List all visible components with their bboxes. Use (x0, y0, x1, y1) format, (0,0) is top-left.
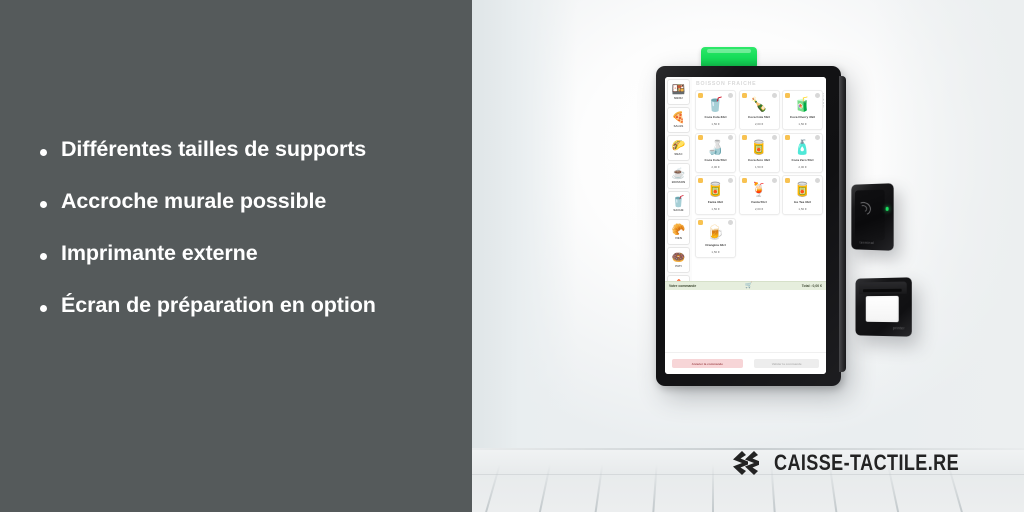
burger-icon: 🌮 (672, 140, 686, 152)
promo-tag-icon (742, 178, 747, 183)
feature-bullet-item: Imprimante externe (40, 242, 460, 294)
cold-drink-icon: 🥤 (672, 196, 686, 208)
product-card[interactable]: 🍾 Coca Cola 50cl 2,00 € (739, 90, 780, 130)
floor-tile-line (652, 464, 657, 512)
wall-shadow-right (874, 0, 1024, 448)
sidebar-item-menu[interactable]: 🍱 MENU (667, 79, 690, 105)
order-action-bar: Annuler la commande Valider la commande (665, 352, 826, 374)
product-card[interactable]: 🧴 Coca Zero 50cl 2,00 € (782, 133, 823, 173)
product-card[interactable]: 🥫 Coca Zero 33cl 1,50 € (739, 133, 780, 173)
double-chevron-left-icon (729, 448, 759, 478)
product-name: Coca Zero 50cl (791, 158, 813, 162)
menu-combo-icon: 🍱 (672, 84, 686, 96)
product-image: 🍶 (707, 140, 724, 155)
product-grid: 🥤 Coca Cola 33cl 1,50 € 🍾 Coca Cola 50cl… (692, 90, 826, 281)
bullet-dot-icon (40, 201, 47, 208)
terminal-brand-label: terminal (860, 241, 875, 245)
info-icon[interactable] (815, 93, 820, 98)
product-image: 🧴 (794, 140, 811, 155)
product-price: 1,50 € (711, 207, 719, 211)
printer-paper-slot (863, 289, 902, 293)
promo-tag-icon (698, 178, 703, 183)
feature-bullet-item: Différentes tailles de supports (40, 138, 460, 190)
info-icon[interactable] (728, 220, 733, 225)
promo-tag-icon (742, 93, 747, 98)
product-card[interactable]: 🥫 Fanta 33cl 1,50 € (695, 175, 736, 215)
order-label: Votre commande (669, 284, 696, 288)
promo-tag-icon (785, 93, 790, 98)
cancel-order-button[interactable]: Annuler la commande (672, 359, 743, 368)
product-name: Coca Zero 33cl (748, 158, 770, 162)
section-title: BOISSON FRAICHE (692, 77, 826, 90)
product-image: 🍹 (750, 182, 767, 197)
product-photo-scene: KIOSK 🍱 MENU 🍕 SALES 🌮 (472, 0, 1024, 512)
kiosk-main-area: BOISSON FRAICHE 🥤 Coca Cola 33cl 1,50 € (692, 77, 826, 281)
floor-tile-line (485, 464, 501, 512)
product-image: 🥫 (750, 140, 767, 155)
product-price: 1,50 € (798, 122, 806, 126)
sidebar-item-sales[interactable]: 🍕 SALES (667, 107, 690, 133)
status-led-indicator (885, 207, 888, 211)
bullet-dot-icon (40, 149, 47, 156)
kiosk-category-sidebar: 🍱 MENU 🍕 SALES 🌮 SNAC ☕ (665, 77, 692, 281)
donut-icon: 🍩 (672, 252, 686, 264)
info-icon[interactable] (815, 178, 820, 183)
product-name: Coca Cola 50cl (704, 158, 726, 162)
floor-tile-line (712, 464, 714, 512)
brand-name: CAISSE-TACTILE.RE (774, 450, 959, 476)
product-card[interactable]: 🍺 Orangina 33cl 1,50 € (695, 218, 736, 258)
hot-drink-icon: ☕ (672, 168, 686, 180)
sidebar-item-label: BOISSON (672, 180, 686, 184)
green-status-cap (701, 47, 757, 67)
receipt-printer: printer (856, 277, 912, 336)
feature-bullet-label: Écran de préparation en option (61, 294, 376, 318)
promo-tag-icon (742, 135, 747, 140)
info-icon[interactable] (772, 135, 777, 140)
feature-bullet-item: Écran de préparation en option (40, 294, 460, 346)
floor-tile-line (539, 464, 551, 512)
promo-tag-icon (698, 135, 703, 140)
sidebar-item-vien[interactable]: 🥐 VIEN (667, 219, 690, 245)
feature-bullet-label: Imprimante externe (61, 242, 258, 266)
product-name: Coca Cola 33cl (704, 115, 726, 119)
sidebar-item-label: VIEN (675, 236, 682, 240)
product-price: 2,00 € (711, 165, 719, 169)
feature-bullet-label: Accroche murale possible (61, 190, 326, 214)
info-icon[interactable] (728, 178, 733, 183)
product-name: Ice Tea 33cl (794, 200, 811, 204)
kiosk-body: 🍱 MENU 🍕 SALES 🌮 SNAC ☕ (665, 77, 826, 281)
product-price: 2,00 € (798, 165, 806, 169)
floor-tile-line (595, 464, 604, 512)
promo-tag-icon (698, 93, 703, 98)
brand-logo: CAISSE-TACTILE.RE (729, 448, 1000, 478)
wall-shadow-left (472, 0, 577, 448)
product-price: 1,50 € (711, 122, 719, 126)
bullet-dot-icon (40, 253, 47, 260)
tablet-kiosk-device: KIOSK 🍱 MENU 🍕 SALES 🌮 (656, 66, 841, 386)
sidebar-item-label: MENU (674, 96, 683, 100)
info-icon[interactable] (728, 93, 733, 98)
feature-bullet-item: Accroche murale possible (40, 190, 460, 242)
sidebar-item-label: SALES (674, 124, 684, 128)
product-name: Coca Cherry 33cl (790, 115, 815, 119)
info-icon[interactable] (728, 135, 733, 140)
product-card[interactable]: 🥫 Ice Tea 33cl 1,50 € (782, 175, 823, 215)
info-icon[interactable] (815, 135, 820, 140)
product-name: Fanta 50cl (751, 200, 766, 204)
feature-bullet-label: Différentes tailles de supports (61, 138, 366, 162)
product-price: 2,00 € (755, 122, 763, 126)
tablet-side-bezel (839, 76, 846, 372)
left-feature-panel: Différentes tailles de supports Accroche… (0, 0, 472, 512)
terminal-screen (855, 190, 885, 241)
product-image: 🧃 (794, 97, 811, 112)
promo-tag-icon (698, 220, 703, 225)
croissant-icon: 🥐 (672, 224, 686, 236)
product-image: 🥫 (707, 182, 724, 197)
product-price: 1,50 € (711, 250, 719, 254)
product-image: 🍾 (750, 97, 767, 112)
feature-bullet-list: Différentes tailles de supports Accroche… (40, 138, 460, 346)
product-card[interactable]: 🍹 Fanta 50cl 2,00 € (739, 175, 780, 215)
sidebar-item-label: SACHE (673, 208, 683, 212)
promo-tag-icon (785, 135, 790, 140)
kiosk-screen: KIOSK 🍱 MENU 🍕 SALES 🌮 (665, 77, 826, 374)
product-card[interactable]: 🧃 Coca Cherry 33cl 1,50 € (782, 90, 823, 130)
sidebar-item-boisson[interactable]: ☕ BOISSON (667, 163, 690, 189)
product-price: 1,50 € (798, 207, 806, 211)
card-payment-terminal: terminal (851, 183, 893, 251)
product-price: 1,50 € (755, 165, 763, 169)
info-icon[interactable] (772, 93, 777, 98)
validate-order-button[interactable]: Valider la commande (754, 359, 819, 368)
pizza-icon: 🍕 (672, 112, 686, 124)
sidebar-item-pati[interactable]: 🍩 PATI (667, 247, 690, 273)
product-card[interactable]: 🍶 Coca Cola 50cl 2,00 € (695, 133, 736, 173)
product-image: 🍺 (707, 225, 724, 240)
bullet-dot-icon (40, 305, 47, 312)
sidebar-item-label: PATI (675, 264, 681, 268)
green-cap-highlight (707, 49, 751, 53)
product-name: Coca Cola 50cl (748, 115, 770, 119)
sidebar-item-sache[interactable]: 🥤 SACHE (667, 191, 690, 217)
printer-brand-label: printer (893, 326, 905, 330)
marketing-slide: Différentes tailles de supports Accroche… (0, 0, 1024, 512)
info-icon[interactable] (772, 178, 777, 183)
order-total: Total : 0,00 € (802, 284, 822, 288)
sidebar-item-label: SNAC (674, 152, 682, 156)
product-card[interactable]: 🥤 Coca Cola 33cl 1,50 € (695, 90, 736, 130)
cart-items-list (665, 290, 826, 352)
product-name: Fanta 33cl (708, 200, 723, 204)
sidebar-item-snac[interactable]: 🌮 SNAC (667, 135, 690, 161)
product-price: 2,00 € (755, 207, 763, 211)
product-name: Orangina 33cl (705, 243, 725, 247)
product-image: 🥫 (794, 182, 811, 197)
shopping-cart-icon[interactable]: 🛒 (745, 283, 752, 289)
order-summary-bar[interactable]: Votre commande 🛒 Total : 0,00 € (665, 281, 826, 290)
promo-tag-icon (785, 178, 790, 183)
printer-paper (866, 296, 899, 322)
product-image: 🥤 (707, 97, 724, 112)
